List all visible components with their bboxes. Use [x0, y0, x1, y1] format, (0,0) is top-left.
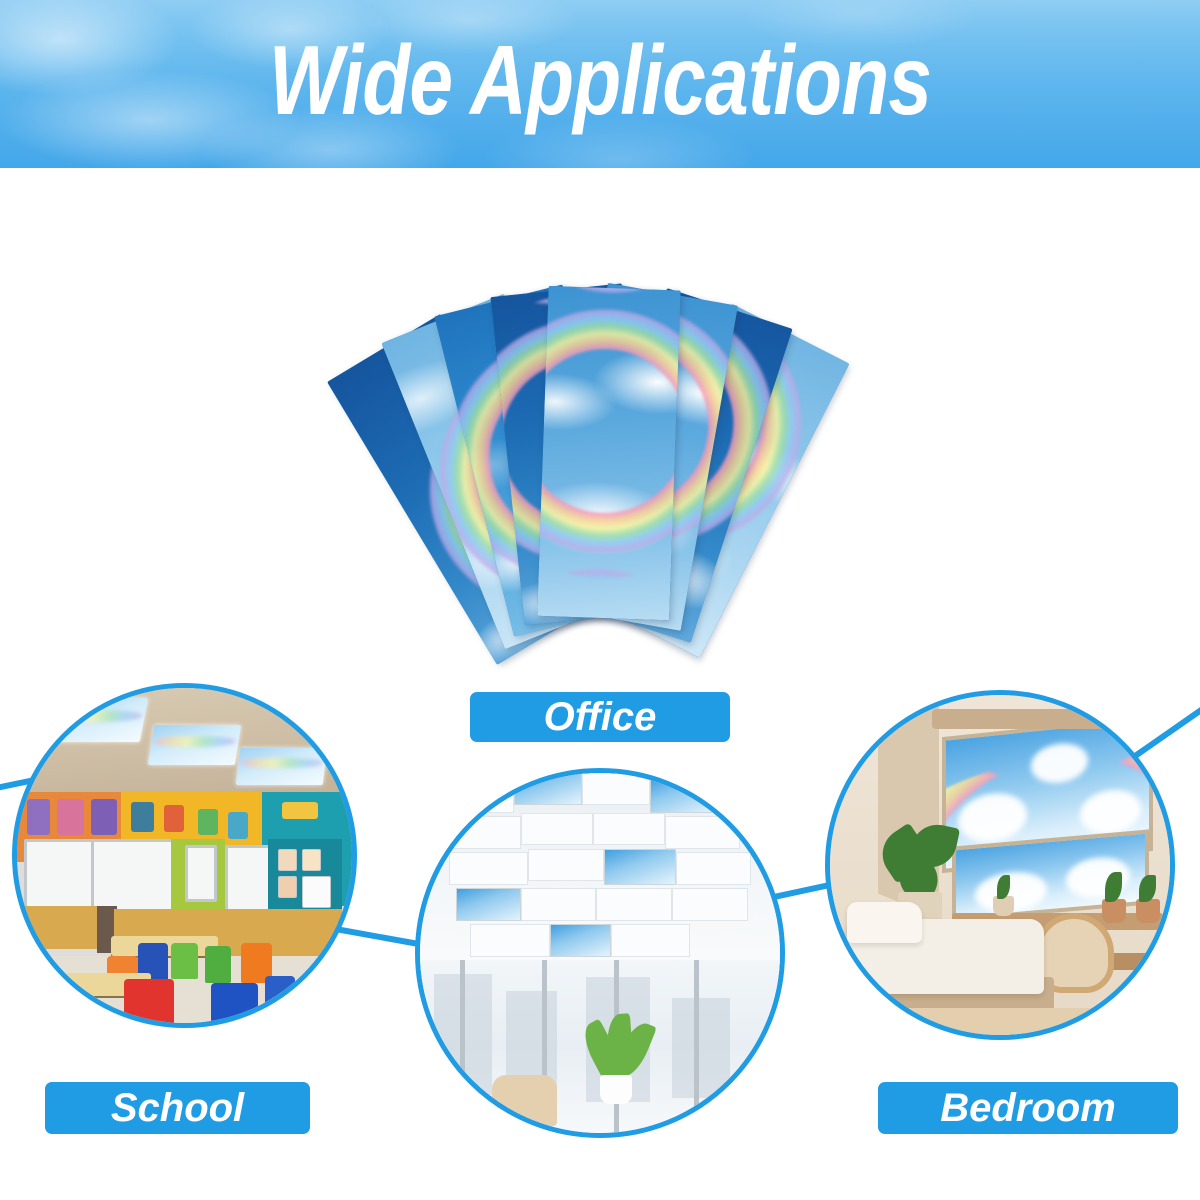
classroom-scene [17, 688, 352, 1023]
badge-text: School [111, 1086, 244, 1131]
counter-right [221, 909, 342, 956]
application-circle-office[interactable] [415, 768, 785, 1138]
ceiling-tile [528, 849, 604, 881]
whiteboard-center [91, 839, 177, 915]
sky-panel-ceiling-4 [456, 888, 521, 920]
window-mullion [694, 960, 699, 1133]
ceiling-tile [672, 888, 748, 920]
ceiling-tile [676, 852, 752, 884]
application-label-office[interactable]: Office [470, 692, 730, 742]
window-mullion [460, 960, 465, 1133]
sky-panel-ceiling-1 [53, 698, 149, 742]
student-work [278, 876, 297, 898]
ceiling-tile [593, 813, 665, 845]
ceiling-tile [434, 780, 513, 812]
bedroom-scene [830, 695, 1170, 1035]
chair-blue-3 [265, 976, 295, 1010]
page-title: Wide Applications [120, 0, 1080, 168]
wall-decoration [228, 812, 248, 839]
ceiling-tile [582, 773, 650, 805]
chart-paper [185, 845, 218, 901]
ceiling-tile [596, 888, 672, 920]
sky-background [537, 286, 680, 620]
ceiling-tile [665, 816, 741, 848]
chair-green-2 [205, 946, 232, 983]
chair-blue-2 [211, 983, 258, 1027]
city-building [672, 998, 730, 1098]
application-label-school[interactable]: School [45, 1082, 310, 1134]
wall-letter [57, 799, 84, 836]
badge-text: Office [544, 695, 657, 740]
wall-decoration [164, 805, 184, 832]
office-scene [420, 773, 780, 1133]
sky-panel-ceiling-5 [550, 924, 611, 956]
wall-letter [27, 799, 50, 836]
chair-red [124, 979, 174, 1026]
student-work [302, 849, 321, 871]
badge-text: Bedroom [940, 1086, 1116, 1131]
sky-panel-ceiling-3 [236, 748, 328, 785]
sky-panel-ceiling-2 [148, 725, 241, 765]
student-work [278, 849, 297, 871]
wall-decoration [198, 809, 218, 836]
student-work [302, 876, 331, 908]
sky-panel-ceiling-2 [650, 777, 718, 813]
plant-pot [600, 1075, 632, 1104]
ceiling-tile [449, 852, 528, 884]
ceiling-tile [521, 813, 593, 845]
application-label-bedroom[interactable]: Bedroom [878, 1082, 1178, 1134]
whiteboard-right [225, 845, 271, 918]
plant-pot [1102, 899, 1126, 923]
application-circle-bedroom[interactable] [825, 690, 1175, 1040]
chair-green [171, 943, 198, 980]
product-panel-fan [0, 168, 1200, 668]
floor [830, 1008, 1170, 1035]
ceiling-tile [442, 816, 521, 848]
wall-decoration [131, 802, 154, 832]
ceiling-tile [470, 924, 549, 956]
wall-letter-teal [282, 802, 319, 819]
header-banner: Wide Applications [0, 0, 1200, 168]
wall-letter [91, 799, 118, 836]
lounge-chair [492, 1075, 557, 1125]
ceiling-tile [521, 888, 597, 920]
ceiling-tile [611, 924, 690, 956]
whiteboard-left [24, 839, 100, 912]
plant-pot [1136, 899, 1160, 923]
bed-pillow [847, 902, 922, 943]
application-circle-school[interactable] [12, 683, 357, 1028]
light-panel[interactable] [537, 286, 680, 620]
window-header-beam [932, 709, 1156, 729]
sky-panel-ceiling-1 [514, 773, 582, 805]
sky-panel-ceiling-3 [604, 849, 676, 885]
